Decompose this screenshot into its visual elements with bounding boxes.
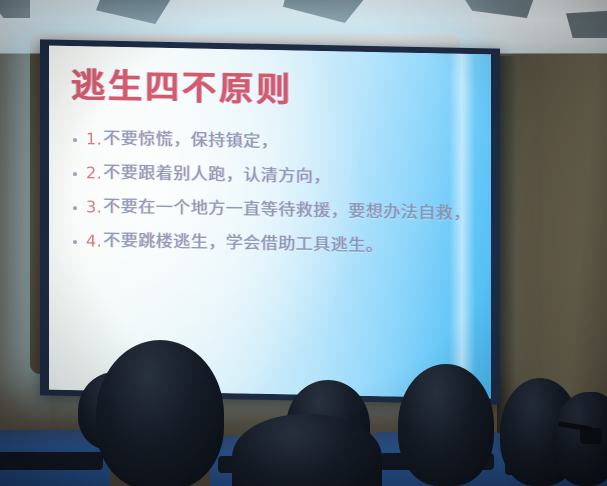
seat — [210, 436, 340, 486]
slide-bullet-list: 1. 不要惊慌，保持镇定， 2. 不要跟着别人跑，认清方向， 3. 不要在一个地… — [71, 127, 473, 260]
wall-shadow — [497, 56, 517, 486]
ceiling-vent-icon — [96, 0, 174, 24]
lecture-hall-photo: 逃生四不原则 1. 不要惊慌，保持镇定， 2. 不要跟着别人跑，认清方向， — [0, 0, 607, 486]
seat — [372, 432, 502, 486]
bullet-text: 不要跟着别人跑，认清方向， — [103, 162, 331, 190]
bullet-number: 3. — [86, 196, 102, 219]
bullet-text: 不要惊慌，保持镇定， — [103, 128, 278, 154]
bullet-number: 2. — [86, 162, 102, 185]
bullet-text: 不要跳楼逃生，学会借助工具逃生。 — [103, 230, 383, 259]
ceiling-vent-icon — [0, 0, 30, 18]
projection-screen-frame: 逃生四不原则 1. 不要惊慌，保持镇定， 2. 不要跟着别人跑，认清方向， — [40, 39, 500, 404]
slide-bullet-item: 1. 不要惊慌，保持镇定， — [71, 127, 473, 158]
bullet-text: 不要在一个地方一直等待救援，要想办法自救， — [103, 196, 471, 226]
slide-bullet-item: 2. 不要跟着别人跑，认清方向， — [71, 161, 473, 192]
person-head-foreground — [232, 414, 382, 486]
slide-bullet-item: 4. 不要跳楼逃生，学会借助工具逃生。 — [71, 229, 473, 260]
slide-title: 逃生四不原则 — [71, 68, 473, 113]
bullet-number: 1. — [86, 128, 102, 151]
slide-bullet-item: 3. 不要在一个地方一直等待救援，要想办法自救， — [71, 195, 473, 226]
ceiling-vent-icon — [566, 10, 607, 38]
bullet-number: 4. — [86, 230, 102, 253]
bullet-dot-icon — [73, 206, 77, 210]
bullet-dot-icon — [73, 138, 77, 142]
projection-screen: 逃生四不原则 1. 不要惊慌，保持镇定， 2. 不要跟着别人跑，认清方向， — [49, 46, 491, 399]
ceiling-vent-icon — [460, 0, 536, 18]
bullet-dot-icon — [73, 240, 77, 244]
slide-content: 逃生四不原则 1. 不要惊慌，保持镇定， 2. 不要跟着别人跑，认清方向， — [49, 46, 491, 399]
bullet-dot-icon — [73, 172, 77, 176]
ceiling-vent-icon — [283, 0, 369, 23]
